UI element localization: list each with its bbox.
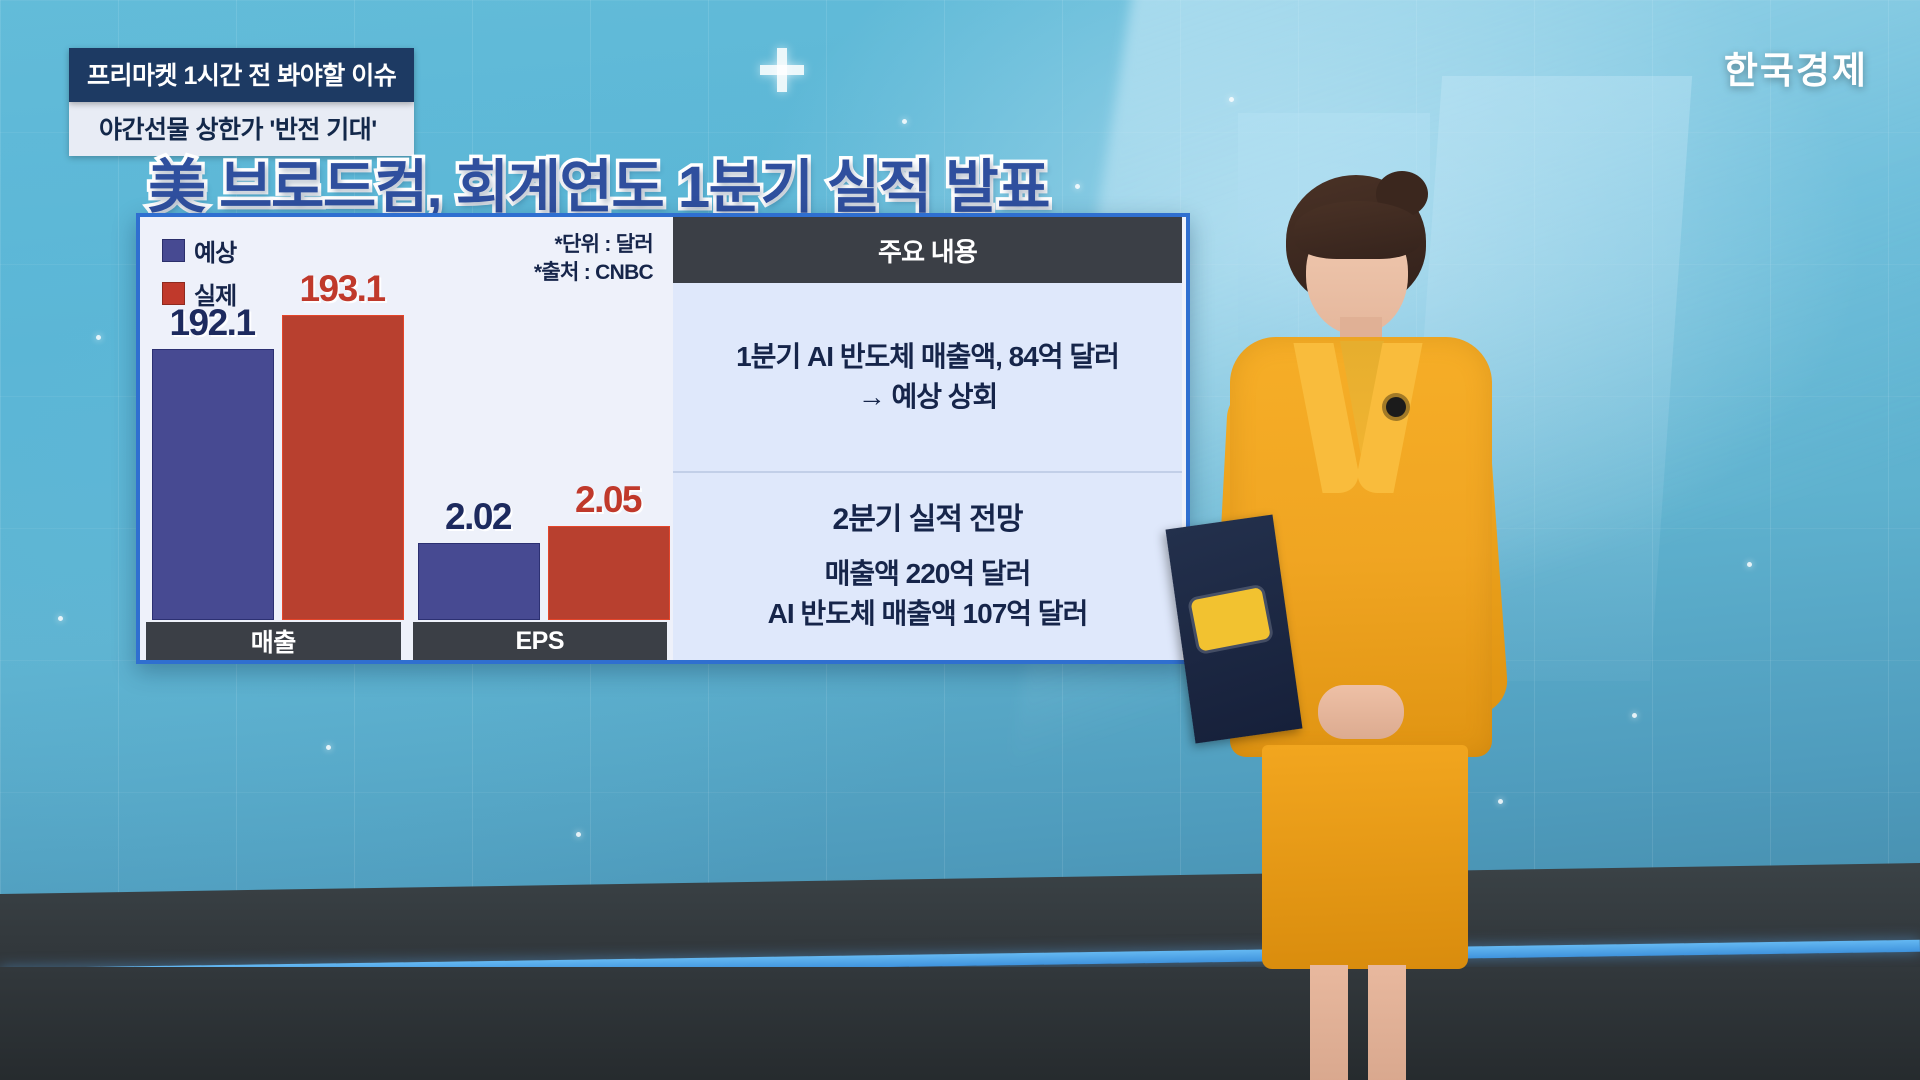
chart-plot-area: 192.1 193.1 2.02 2.05 (146, 277, 667, 618)
graphic-board: 예상 실제 *단위 : 달러 *출처 : CNBC 192.1 (136, 213, 1190, 664)
info-line: 2분기 실적 전망 (833, 499, 1023, 542)
anchor-hands (1318, 685, 1404, 739)
bar-chart: 예상 실제 *단위 : 달러 *출처 : CNBC 192.1 (140, 217, 673, 660)
anchor-fringe (1294, 201, 1422, 259)
broadcast-stage: 한국경제 프리마켓 1시간 전 봐야할 이슈 야간선물 상한가 '반전 기대' … (0, 0, 1920, 1080)
bar-value-eps-expected: 2.02 (445, 496, 511, 538)
info-line: 매출액 220억 달러 (825, 554, 1031, 594)
bar-fill (152, 349, 274, 620)
bar-value-eps-actual: 2.05 (575, 479, 641, 521)
info-block-q2: 2분기 실적 전망 매출액 220억 달러 AI 반도체 매출액 107억 달러 (673, 473, 1182, 661)
lapel-microphone-icon (1386, 397, 1406, 417)
bar-group-revenue: 192.1 193.1 (152, 277, 402, 618)
info-panel: 주요 내용 1분기 AI 반도체 매출액, 84억 달러 → 예상 상회 2분기… (673, 217, 1182, 660)
background-dot (58, 616, 63, 621)
info-line: AI 반도체 매출액 107억 달러 (768, 594, 1088, 634)
chart-x-axis: 매출 EPS (146, 622, 667, 660)
anchor-leg-right (1368, 965, 1406, 1080)
headline-top: 프리마켓 1시간 전 봐야할 이슈 (69, 48, 414, 102)
bar-fill (282, 315, 404, 620)
bar-revenue-expected: 192.1 (152, 349, 272, 618)
bar-eps-expected: 2.02 (418, 543, 538, 618)
bar-eps-actual: 2.05 (548, 526, 668, 618)
anchor-skirt (1262, 745, 1468, 969)
info-panel-body: 1분기 AI 반도체 매출액, 84억 달러 → 예상 상회 2분기 실적 전망… (673, 283, 1182, 660)
background-dot (1229, 97, 1234, 102)
background-dot (1747, 562, 1752, 567)
anchor-leg-left (1310, 965, 1348, 1080)
channel-logo: 한국경제 (1724, 40, 1868, 94)
info-line: 1분기 AI 반도체 매출액, 84억 달러 (736, 337, 1119, 377)
note-unit: *단위 : 달러 (534, 231, 653, 259)
plus-marker-icon (760, 48, 804, 92)
bar-revenue-actual: 193.1 (282, 315, 402, 618)
info-block-q1: 1분기 AI 반도체 매출액, 84억 달러 → 예상 상회 (673, 283, 1182, 473)
background-dot (576, 832, 581, 837)
bar-value-revenue-actual: 193.1 (299, 268, 384, 310)
x-axis-label-eps: EPS (413, 622, 668, 660)
info-panel-header: 주요 내용 (673, 217, 1182, 283)
legend-item-expected: 예상 (162, 233, 236, 268)
folder-program-logo (1190, 587, 1271, 652)
background-dot (96, 335, 101, 340)
background-dot (1075, 184, 1080, 189)
info-line: → 예상 상회 (858, 377, 998, 417)
bar-fill (418, 543, 540, 620)
background-dot (1632, 713, 1637, 718)
bar-group-eps: 2.02 2.05 (418, 277, 668, 618)
x-axis-label-revenue: 매출 (146, 622, 401, 660)
legend-label-expected: 예상 (194, 233, 236, 268)
legend-swatch-expected (162, 239, 185, 262)
bar-fill (548, 526, 670, 620)
page-title: 美 브로드컴, 회계연도 1분기 실적 발표 (148, 140, 1049, 224)
bar-value-revenue-expected: 192.1 (169, 302, 254, 344)
news-anchor (1190, 165, 1580, 1080)
floor-foreground (0, 967, 1920, 1080)
